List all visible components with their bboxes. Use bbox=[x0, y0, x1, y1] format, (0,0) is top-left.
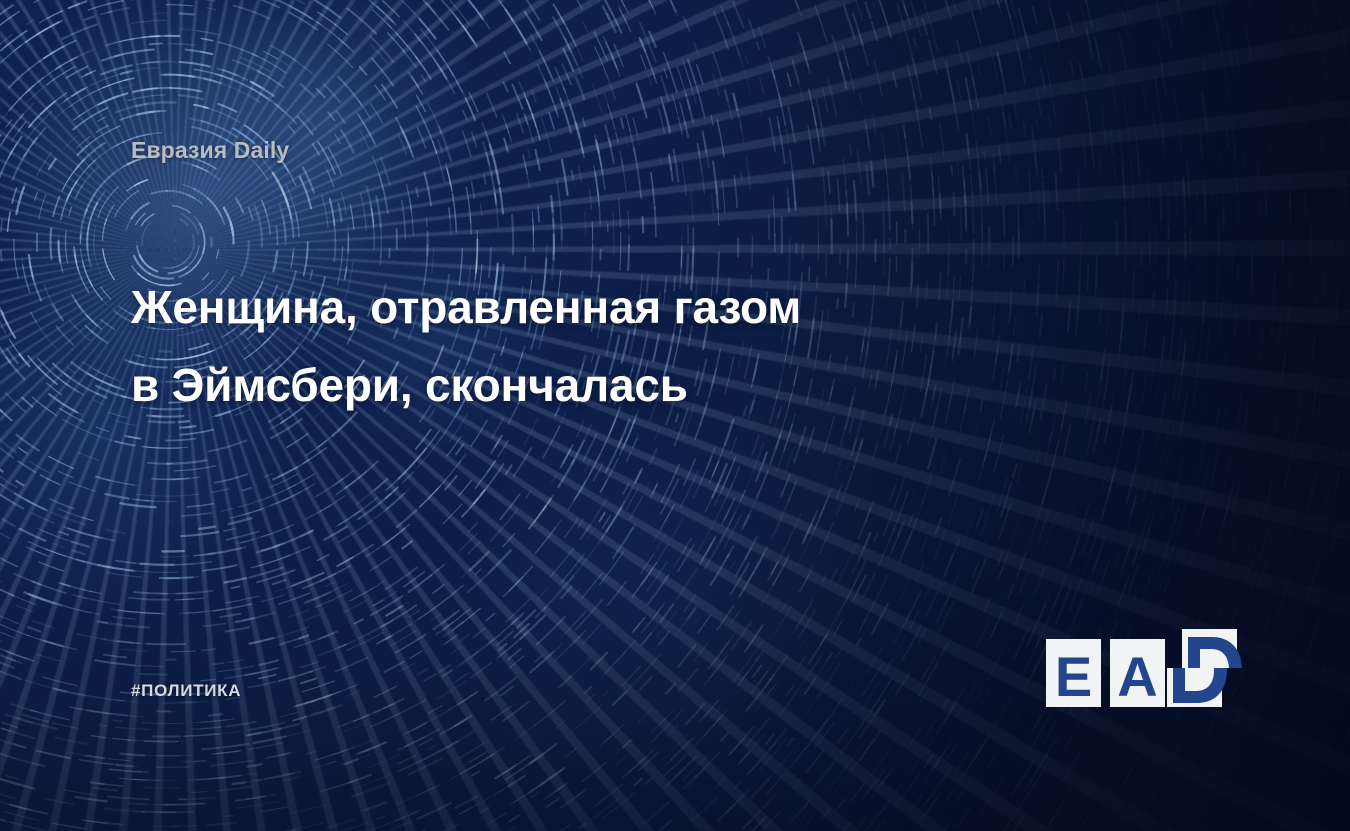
logo-letter-d-upper-half bbox=[1182, 629, 1254, 668]
logo-letter-a: A bbox=[1110, 649, 1165, 705]
logo-letter-d-lower-half bbox=[1167, 668, 1239, 707]
logo-letter-e: E bbox=[1046, 649, 1101, 705]
category-hashtag[interactable]: #ПОЛИТИКА bbox=[131, 681, 241, 701]
eadaily-logo[interactable]: E A bbox=[1046, 629, 1222, 707]
brand-title: Евразия Daily bbox=[131, 137, 289, 164]
headline-line-1: Женщина, отравленная газом bbox=[131, 268, 1011, 346]
headline: Женщина, отравленная газом в Эймсбери, с… bbox=[131, 268, 1011, 424]
headline-line-2: в Эймсбери, скончалась bbox=[131, 346, 1011, 424]
card-content: Евразия Daily Женщина, отравленная газом… bbox=[0, 0, 1350, 831]
news-card: Евразия Daily Женщина, отравленная газом… bbox=[0, 0, 1350, 831]
